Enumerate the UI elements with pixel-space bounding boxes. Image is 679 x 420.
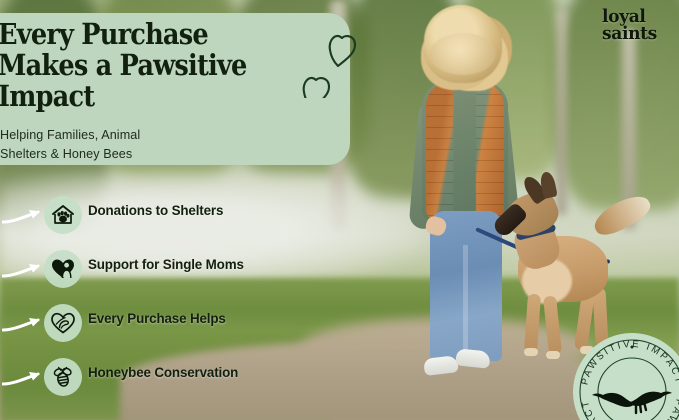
headline-panel: Every Purchase Makes a Pawsitive Impact … bbox=[0, 13, 350, 165]
curved-arrow-icon bbox=[2, 366, 46, 388]
feature-label: Honeybee Conservation bbox=[88, 365, 238, 380]
list-item: Support for Single Moms bbox=[0, 244, 300, 298]
headline-line-1: Every Purchase bbox=[0, 19, 284, 50]
list-item: Every Purchase Helps bbox=[0, 298, 300, 352]
heart-doodles bbox=[300, 14, 366, 98]
brand-logo[interactable]: loyal saints bbox=[602, 8, 670, 43]
dog-leg bbox=[524, 294, 541, 353]
status-badge: PAWSITIVE IMPACT PAWSITIVE IMPACT bbox=[573, 333, 679, 420]
heart-parent-child-icon bbox=[44, 250, 82, 288]
badge-text-top: PAWSITIVE IMPACT bbox=[580, 339, 679, 386]
page-subtitle: Helping Families, Animal Shelters & Hone… bbox=[0, 126, 300, 164]
list-item: Honeybee Conservation bbox=[0, 352, 300, 406]
feature-label: Donations to Shelters bbox=[88, 203, 223, 218]
promo-banner: Every Purchase Makes a Pawsitive Impact … bbox=[0, 0, 679, 420]
curved-arrow-icon bbox=[2, 204, 46, 226]
dog-paw bbox=[524, 348, 538, 356]
feature-label: Support for Single Moms bbox=[88, 257, 244, 272]
logo-line-2: saints bbox=[602, 25, 670, 42]
heart-hands-icon bbox=[44, 304, 82, 342]
headline-line-2: Makes a Pawsitive bbox=[0, 50, 284, 81]
dog-tail bbox=[589, 189, 654, 240]
feature-label: Every Purchase Helps bbox=[88, 311, 226, 326]
dog-paw bbox=[546, 351, 560, 359]
subtitle-line-1: Helping Families, Animal bbox=[0, 126, 300, 145]
sneaker bbox=[423, 355, 459, 376]
hand-and-paw-icon bbox=[592, 392, 672, 414]
list-item: Donations to Shelters bbox=[0, 190, 300, 244]
honeybee-icon bbox=[44, 358, 82, 396]
house-paw-icon bbox=[44, 196, 82, 234]
curly-hair bbox=[424, 7, 502, 83]
dog-leg bbox=[543, 295, 562, 354]
curved-arrow-icon bbox=[2, 312, 46, 334]
rust-puffer-vest bbox=[426, 83, 504, 219]
headline-line-3: Impact bbox=[0, 81, 284, 112]
subtitle-line-2: Shelters & Honey Bees bbox=[0, 145, 300, 164]
curved-arrow-icon bbox=[2, 258, 46, 280]
pawsitive-impact-seal: PAWSITIVE IMPACT PAWSITIVE IMPACT bbox=[573, 333, 679, 420]
heart-outline-icon bbox=[300, 14, 366, 98]
page-title: Every Purchase Makes a Pawsitive Impact bbox=[0, 19, 284, 111]
feature-list: Donations to Shelters Support for Single… bbox=[0, 190, 300, 406]
svg-text:PAWSITIVE IMPACT: PAWSITIVE IMPACT bbox=[580, 339, 679, 386]
